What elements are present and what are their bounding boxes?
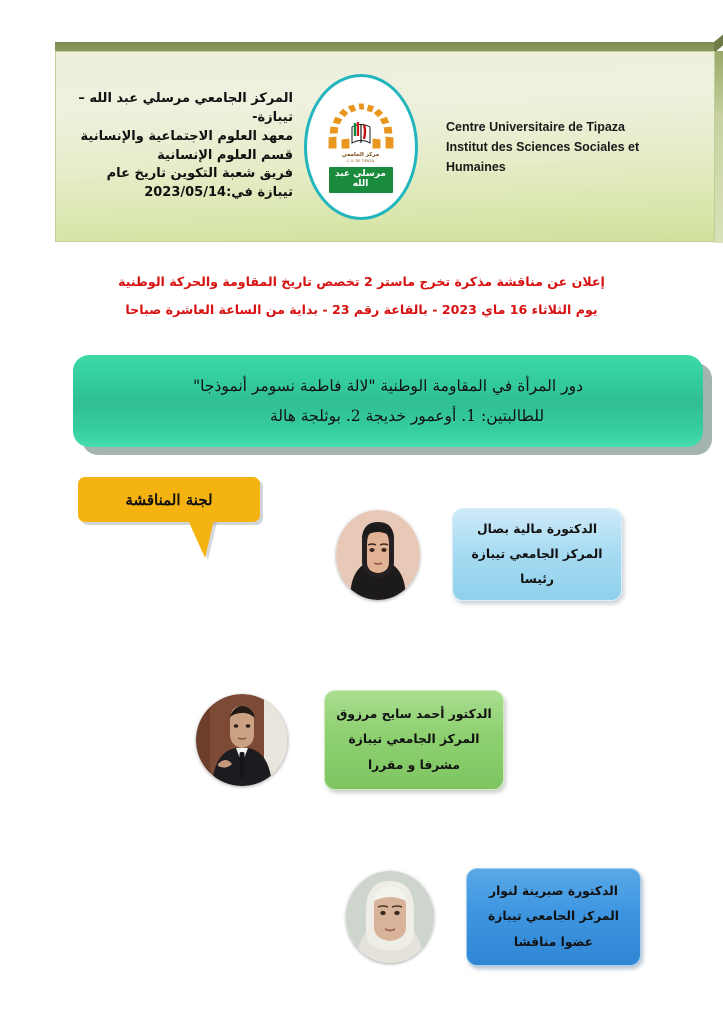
announcement-text: إعلان عن مناقشة مذكرة تخرج ماستر 2 تخصص … <box>0 268 723 325</box>
logo-green-nameplate: مرسلي عبد الله <box>329 167 393 193</box>
committee-banner-label: لجنة المناقشة <box>78 477 260 522</box>
logo-oval-frame: مركز الجامعي C.U. DE TIPAZA مرسلي عبد ال… <box>304 74 418 220</box>
university-logo: مركز الجامعي C.U. DE TIPAZA مرسلي عبد ال… <box>303 74 418 219</box>
announcement-line-2: يوم الثلاثاء 16 ماي 2023 - بالقاعة رقم 2… <box>0 296 723 324</box>
committee-banner: لجنة المناقشة <box>78 477 260 522</box>
member-affiliation: المركز الجامعي تيبازة <box>488 904 619 929</box>
thesis-title: دور المرأة في المقاومة الوطنية "لالة فاط… <box>193 371 583 401</box>
logo-arch-icon <box>324 103 398 149</box>
header-banner: Centre Universitaire de Tipaza Institut … <box>55 42 715 242</box>
header-box: Centre Universitaire de Tipaza Institut … <box>55 51 715 242</box>
header-arabic-line-1: المركز الجامعي مرسلي عبد الله – <box>70 90 293 109</box>
committee-member-row: الدكتور أحمد سايح مرزوق المركز الجامعي ت… <box>196 690 504 790</box>
member-role: رئيسا <box>520 567 554 592</box>
member-card: الدكتور أحمد سايح مرزوق المركز الجامعي ت… <box>324 690 504 790</box>
member-role: عضوا مناقشا <box>514 930 593 955</box>
header-arabic-line-5: فريق شعبة التكوين تاريخ عام <box>70 165 293 184</box>
committee-banner-tail <box>188 520 214 558</box>
member-name: الدكتورة مالية بصال <box>477 517 597 542</box>
header-arabic-line-2: تيبازة- <box>70 109 293 128</box>
member-photo <box>346 871 434 963</box>
header-french-line-1: Centre Universitaire de Tipaza <box>446 117 696 137</box>
member-role: مشرفا و مقررا <box>368 753 460 778</box>
thesis-students: للطالبتين: 1. أوعمور خديجة 2. بوثلجة هال… <box>232 401 544 431</box>
announcement-line-1: إعلان عن مناقشة مذكرة تخرج ماستر 2 تخصص … <box>0 268 723 296</box>
logo-book-emblem <box>352 122 370 143</box>
member-name: الدكتور أحمد سايح مرزوق <box>336 702 491 727</box>
member-photo <box>196 694 288 786</box>
member-card: الدكتورة صبرينة لنوار المركز الجامعي تيب… <box>466 868 641 966</box>
header-french-block: Centre Universitaire de Tipaza Institut … <box>418 117 714 177</box>
member-photo <box>336 510 420 600</box>
header-3d-side-face <box>714 51 723 243</box>
logo-subtext-latin: C.U. DE TIPAZA <box>347 159 374 163</box>
header-arabic-block: المركز الجامعي مرسلي عبد الله – تيبازة- … <box>56 90 303 203</box>
member-name: الدكتورة صبرينة لنوار <box>489 879 618 904</box>
member-affiliation: المركز الجامعي تيبازة <box>472 542 603 567</box>
header-arabic-line-4: قسم العلوم الإنسانية <box>70 147 293 166</box>
header-arabic-line-6: تيبازة في:2023/05/14 <box>70 184 293 203</box>
committee-member-row: الدكتورة صبرينة لنوار المركز الجامعي تيب… <box>346 868 641 966</box>
logo-subtext-arabic: مركز الجامعي <box>342 152 379 158</box>
thesis-title-box: دور المرأة في المقاومة الوطنية "لالة فاط… <box>73 355 703 447</box>
member-card: الدكتورة مالية بصال المركز الجامعي تيباز… <box>452 508 622 601</box>
header-arabic-line-3: معهد العلوم الاجتماعية والإنسانية <box>70 128 293 147</box>
committee-member-row: الدكتورة مالية بصال المركز الجامعي تيباز… <box>336 508 622 601</box>
member-affiliation: المركز الجامعي تيبازة <box>349 727 480 752</box>
header-french-line-2: Institut des Sciences Sociales et Humain… <box>446 137 696 177</box>
